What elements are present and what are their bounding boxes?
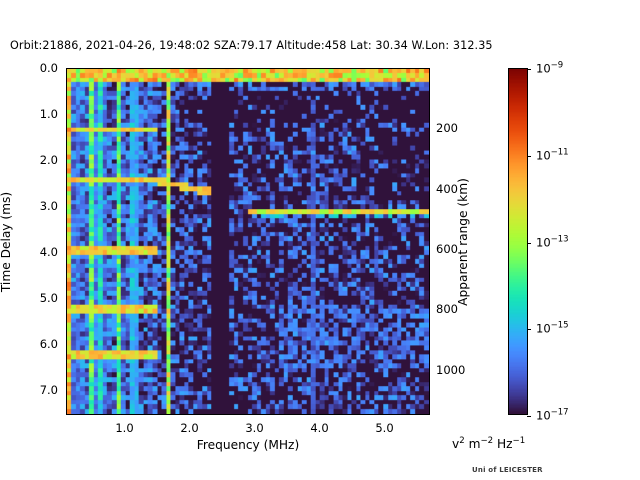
x-tick-major: [191, 414, 192, 415]
colorbar-gradient: [509, 69, 527, 414]
y-tick-minor: [66, 363, 67, 364]
y-tick-major: [66, 345, 67, 346]
y2-tick-minor: [429, 220, 430, 221]
x-tick-minor: [100, 414, 101, 415]
y2-tick-major: [429, 129, 430, 130]
colorbar-units-label: v2 m−2 Hz−1: [452, 436, 525, 451]
y-tick-minor: [66, 106, 67, 107]
y-tick-minor: [66, 244, 67, 245]
y-tick-minor: [66, 216, 67, 217]
y-tick-major: [66, 299, 67, 300]
y2-tick-minor: [429, 341, 430, 342]
x-tick-label: 2.0: [180, 421, 198, 435]
x-tick-major: [386, 414, 387, 415]
colorbar: [508, 68, 528, 415]
y2-tick-minor: [429, 295, 430, 296]
colorbar-unit-m-exp: −2: [480, 436, 493, 446]
y-tick-minor: [66, 317, 67, 318]
y2-tick-minor: [429, 84, 430, 85]
credit-label: Uni of LEICESTER: [472, 466, 543, 474]
x-tick-minor: [295, 414, 296, 415]
y2-tick-minor: [429, 401, 430, 402]
colorbar-unit-m: m: [469, 437, 481, 451]
x-tick-minor: [217, 414, 218, 415]
x-tick-minor: [347, 414, 348, 415]
y-tick-minor: [66, 372, 67, 373]
colorbar-unit-v-exp: 2: [459, 436, 464, 446]
colorbar-tick: [527, 416, 531, 417]
x-tick-label: 4.0: [310, 421, 328, 435]
y-tick-minor: [66, 133, 67, 134]
colorbar-tick-label: 10−15: [536, 321, 569, 336]
plot-axes: [66, 68, 430, 415]
y-tick-minor: [66, 198, 67, 199]
figure-title: Orbit:21886, 2021-04-26, 19:48:02 SZA:79…: [10, 39, 630, 52]
x-tick-minor: [74, 414, 75, 415]
x-tick-minor: [165, 414, 166, 415]
colorbar-tick-label: 10−11: [536, 147, 569, 162]
y2-tick-minor: [429, 280, 430, 281]
y-tick-minor: [66, 280, 67, 281]
colorbar-unit-hz: Hz: [497, 437, 513, 451]
y-tick-minor: [66, 97, 67, 98]
y-tick-minor: [66, 409, 67, 410]
x-tick-minor: [152, 414, 153, 415]
x-tick-minor: [113, 414, 114, 415]
y-tick-label: 4.0: [0, 245, 58, 259]
x-tick-minor: [412, 414, 413, 415]
y-tick-minor: [66, 143, 67, 144]
y-tick-minor: [66, 225, 67, 226]
y2-tick-minor: [429, 386, 430, 387]
y-tick-label: 0.0: [0, 61, 58, 75]
y-tick-minor: [66, 234, 67, 235]
x-tick-minor: [243, 414, 244, 415]
y-tick-major: [66, 69, 67, 70]
y-tick-major: [66, 115, 67, 116]
x-tick-minor: [87, 414, 88, 415]
y-tick-label: 3.0: [0, 199, 58, 213]
x-tick-major: [126, 414, 127, 415]
y2-tick-minor: [429, 265, 430, 266]
y2-tick-major: [429, 310, 430, 311]
y-tick-label: 6.0: [0, 337, 58, 351]
y2-axis-label-text: Apparent range (km): [456, 178, 470, 306]
y-tick-label: 2.0: [0, 153, 58, 167]
y-tick-major: [66, 207, 67, 208]
y2-tick-minor: [429, 235, 430, 236]
x-axis-label: Frequency (MHz): [66, 438, 430, 452]
y-tick-minor: [66, 336, 67, 337]
colorbar-tick: [527, 69, 531, 70]
x-tick-label: 5.0: [375, 421, 393, 435]
colorbar-tick: [527, 156, 531, 157]
y-tick-label: 7.0: [0, 383, 58, 397]
y-tick-major: [66, 161, 67, 162]
y2-tick-minor: [429, 160, 430, 161]
colorbar-tick-label: 10−17: [536, 408, 569, 423]
ionogram-heatmap: [67, 69, 429, 414]
y-tick-minor: [66, 400, 67, 401]
x-tick-minor: [139, 414, 140, 415]
y2-tick-minor: [429, 325, 430, 326]
y-tick-minor: [66, 188, 67, 189]
x-tick-major: [256, 414, 257, 415]
y2-tick-minor: [429, 356, 430, 357]
y-tick-minor: [66, 124, 67, 125]
y-tick-minor: [66, 271, 67, 272]
y-tick-major: [66, 253, 67, 254]
y2-tick-minor: [429, 205, 430, 206]
x-tick-minor: [204, 414, 205, 415]
y-tick-label: 1.0: [0, 107, 58, 121]
colorbar-tick: [527, 243, 531, 244]
y-tick-minor: [66, 179, 67, 180]
x-tick-major: [321, 414, 322, 415]
x-tick-minor: [230, 414, 231, 415]
x-tick-minor: [399, 414, 400, 415]
x-tick-minor: [360, 414, 361, 415]
x-tick-minor: [308, 414, 309, 415]
y-tick-minor: [66, 308, 67, 309]
y-tick-minor: [66, 382, 67, 383]
y-tick-major: [66, 391, 67, 392]
x-tick-minor: [425, 414, 426, 415]
y-tick-label: 5.0: [0, 291, 58, 305]
colorbar-tick-label: 10−13: [536, 234, 569, 249]
ionogram-figure: Orbit:21886, 2021-04-26, 19:48:02 SZA:79…: [0, 0, 640, 480]
y2-tick-major: [429, 250, 430, 251]
y-tick-minor: [66, 152, 67, 153]
x-tick-minor: [269, 414, 270, 415]
x-tick-minor: [282, 414, 283, 415]
y2-tick-major: [429, 371, 430, 372]
y-tick-minor: [66, 87, 67, 88]
y2-tick-major: [429, 190, 430, 191]
y-tick-minor: [66, 262, 67, 263]
colorbar-tick: [527, 329, 531, 330]
colorbar-unit-hz-exp: −1: [513, 436, 526, 446]
y-tick-minor: [66, 354, 67, 355]
y-tick-minor: [66, 78, 67, 79]
x-tick-label: 1.0: [115, 421, 133, 435]
y2-tick-minor: [429, 144, 430, 145]
x-tick-label: 3.0: [245, 421, 263, 435]
y-tick-minor: [66, 170, 67, 171]
y-tick-minor: [66, 290, 67, 291]
y2-tick-minor: [429, 175, 430, 176]
y2-tick-minor: [429, 114, 430, 115]
y2-tick-minor: [429, 99, 430, 100]
y2-axis-label: Apparent range (km): [455, 68, 471, 415]
x-tick-minor: [373, 414, 374, 415]
colorbar-tick-label: 10−9: [536, 61, 563, 76]
x-tick-minor: [178, 414, 179, 415]
x-tick-minor: [334, 414, 335, 415]
y-tick-minor: [66, 326, 67, 327]
